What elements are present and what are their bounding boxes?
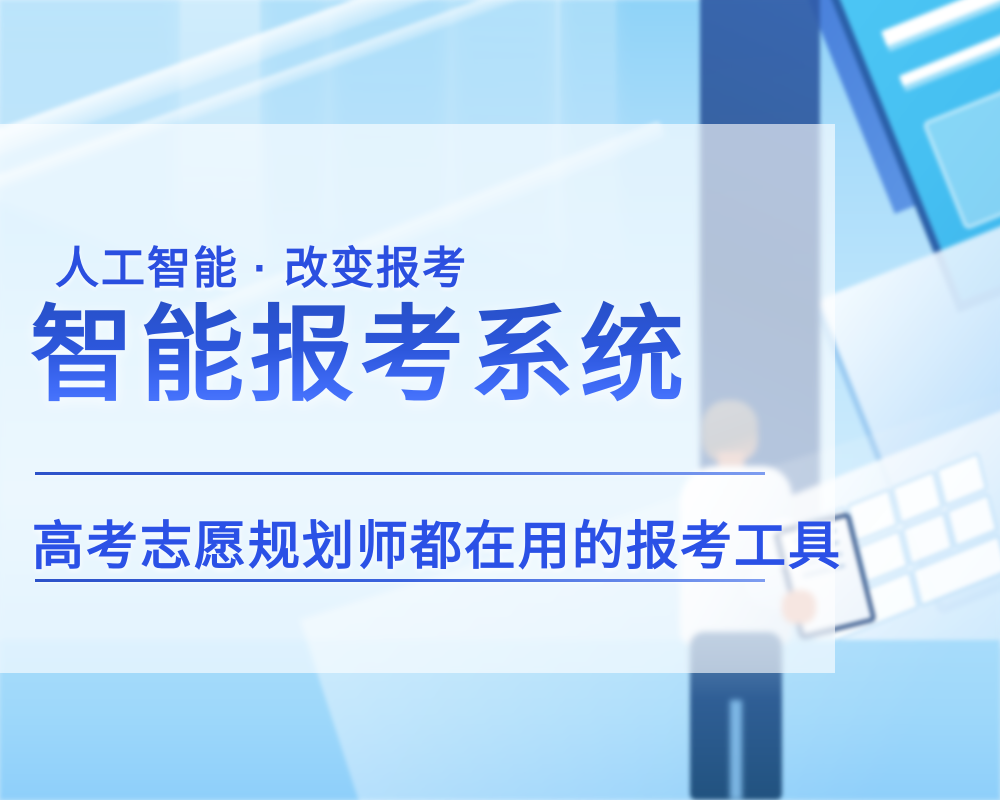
screen-bar — [881, 0, 1000, 46]
person-leg-gap — [730, 700, 742, 800]
screen-card — [922, 83, 1000, 230]
divider-bottom — [35, 579, 765, 582]
divider-top — [35, 472, 765, 475]
banner-subtitle: 高考志愿规划师都在用的报考工具 — [32, 504, 842, 579]
banner-headline: 智能报考系统 — [30, 300, 690, 412]
promo-banner: 人工智能 · 改变报考 智能报考系统 高考志愿规划师都在用的报考工具 — [0, 0, 1000, 800]
banner-tagline: 人工智能 · 改变报考 — [55, 232, 468, 296]
banner-text-block: 人工智能 · 改变报考 智能报考系统 高考志愿规划师都在用的报考工具 — [0, 124, 835, 673]
